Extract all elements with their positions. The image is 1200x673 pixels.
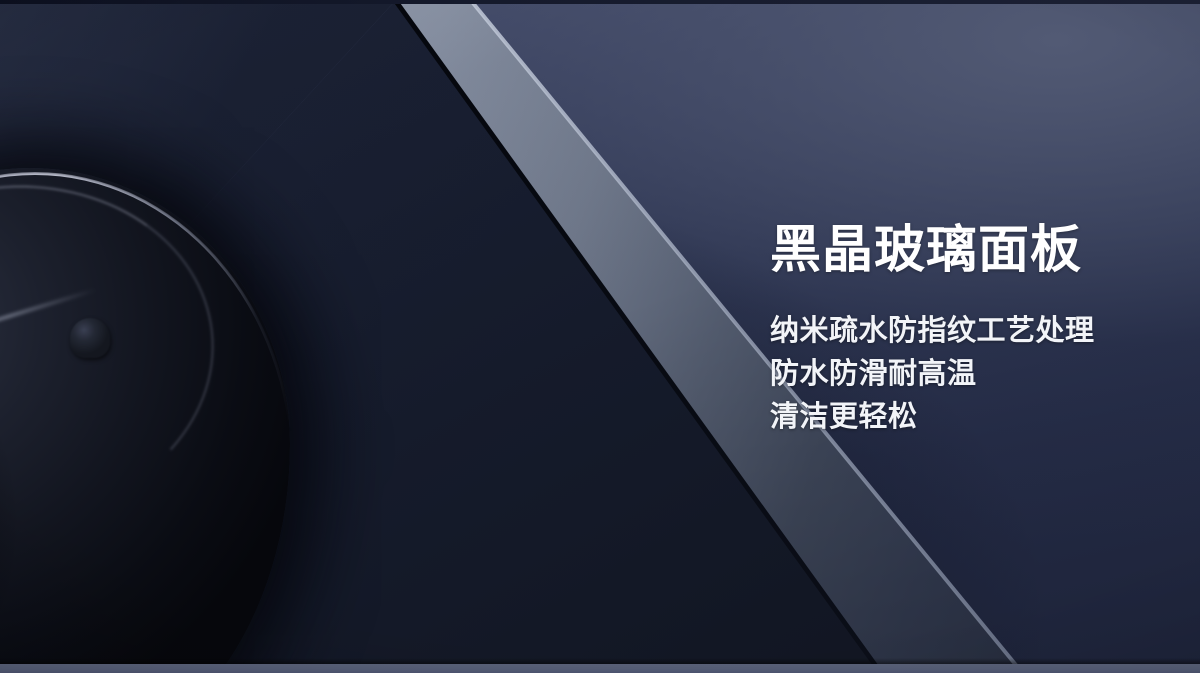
product-object [0,168,290,673]
feature-list: 纳米疏水防指纹工艺处理 防水防滑耐高温 清洁更轻松 [770,310,1170,439]
feature-line: 清洁更轻松 [770,396,1170,439]
top-edge-rail [0,0,1200,4]
bottom-edge-rail [0,664,1200,673]
feature-line: 防水防滑耐高温 [770,353,1170,396]
text-block: 黑晶玻璃面板 纳米疏水防指纹工艺处理 防水防滑耐高温 清洁更轻松 [770,222,1170,439]
product-shadow [0,268,70,673]
product-knob [70,318,110,358]
feature-line: 纳米疏水防指纹工艺处理 [770,310,1170,353]
page-title: 黑晶玻璃面板 [770,222,1170,277]
promo-slide: 黑晶玻璃面板 纳米疏水防指纹工艺处理 防水防滑耐高温 清洁更轻松 [0,0,1200,673]
